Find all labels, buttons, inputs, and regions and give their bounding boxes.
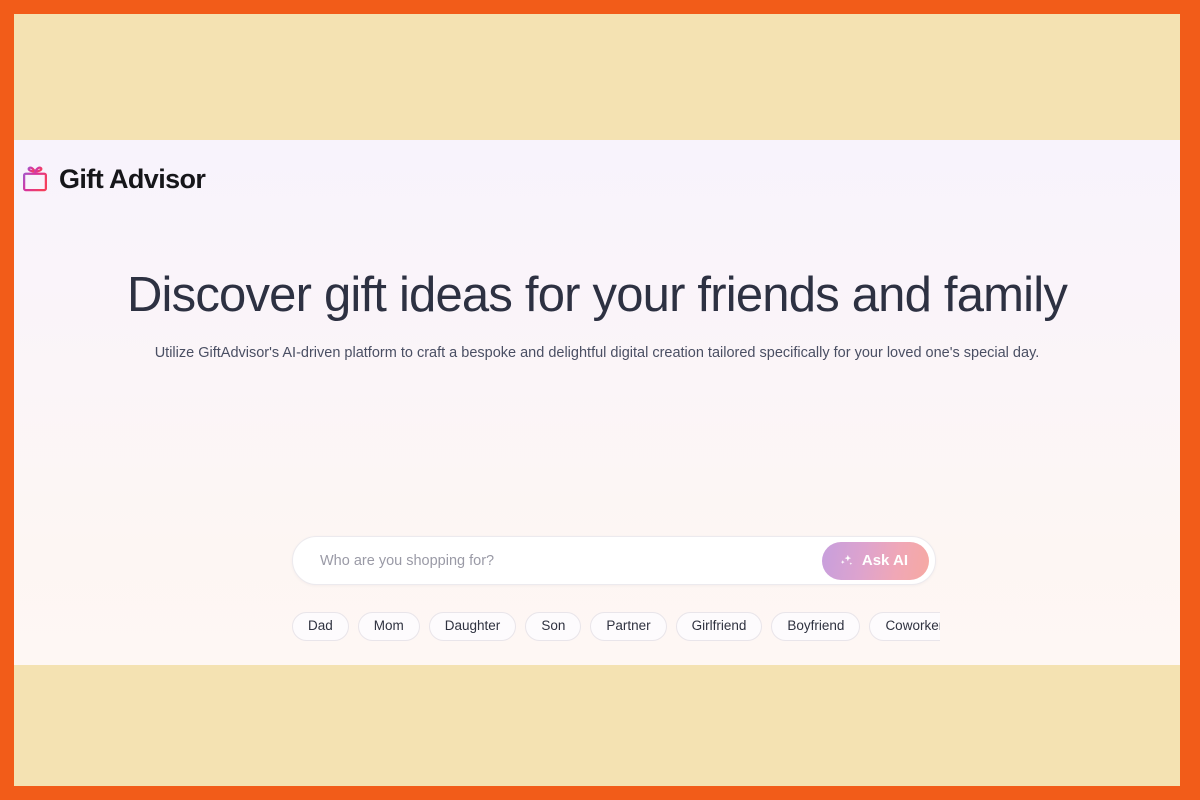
outer-frame: Gift Advisor Discover gift ideas for you… bbox=[0, 0, 1200, 800]
ask-ai-button[interactable]: Ask AI bbox=[822, 542, 929, 580]
brand-name: Gift Advisor bbox=[59, 166, 205, 193]
recipient-chip[interactable]: Dad bbox=[292, 612, 349, 641]
site-header: Gift Advisor bbox=[14, 140, 1180, 218]
recipient-chip[interactable]: Girlfriend bbox=[676, 612, 763, 641]
recipient-chip[interactable]: Daughter bbox=[429, 612, 517, 641]
search-input[interactable] bbox=[320, 537, 822, 584]
recipient-chip[interactable]: Mom bbox=[358, 612, 420, 641]
gift-box-icon bbox=[20, 164, 50, 194]
ask-ai-label: Ask AI bbox=[862, 552, 908, 569]
search-pill: Ask AI bbox=[292, 536, 936, 585]
sparkles-icon bbox=[838, 552, 855, 569]
recipient-chip[interactable]: Son bbox=[525, 612, 581, 641]
recipient-chip[interactable]: Boyfriend bbox=[771, 612, 860, 641]
recipient-chip[interactable]: Partner bbox=[590, 612, 666, 641]
recipient-chips-row[interactable]: DadMomDaughterSonPartnerGirlfriendBoyfri… bbox=[292, 611, 940, 641]
hero-section: Discover gift ideas for your friends and… bbox=[14, 218, 1180, 363]
page-title: Discover gift ideas for your friends and… bbox=[14, 218, 1180, 323]
brand-logo-link[interactable]: Gift Advisor bbox=[20, 164, 205, 194]
site-viewport: Gift Advisor Discover gift ideas for you… bbox=[14, 140, 1180, 665]
search-bar: Ask AI bbox=[292, 536, 936, 585]
recipient-chip[interactable]: Coworker bbox=[869, 612, 940, 641]
page-canvas: Gift Advisor Discover gift ideas for you… bbox=[14, 14, 1180, 786]
hero-subtitle: Utilize GiftAdvisor's AI-driven platform… bbox=[14, 323, 1180, 363]
